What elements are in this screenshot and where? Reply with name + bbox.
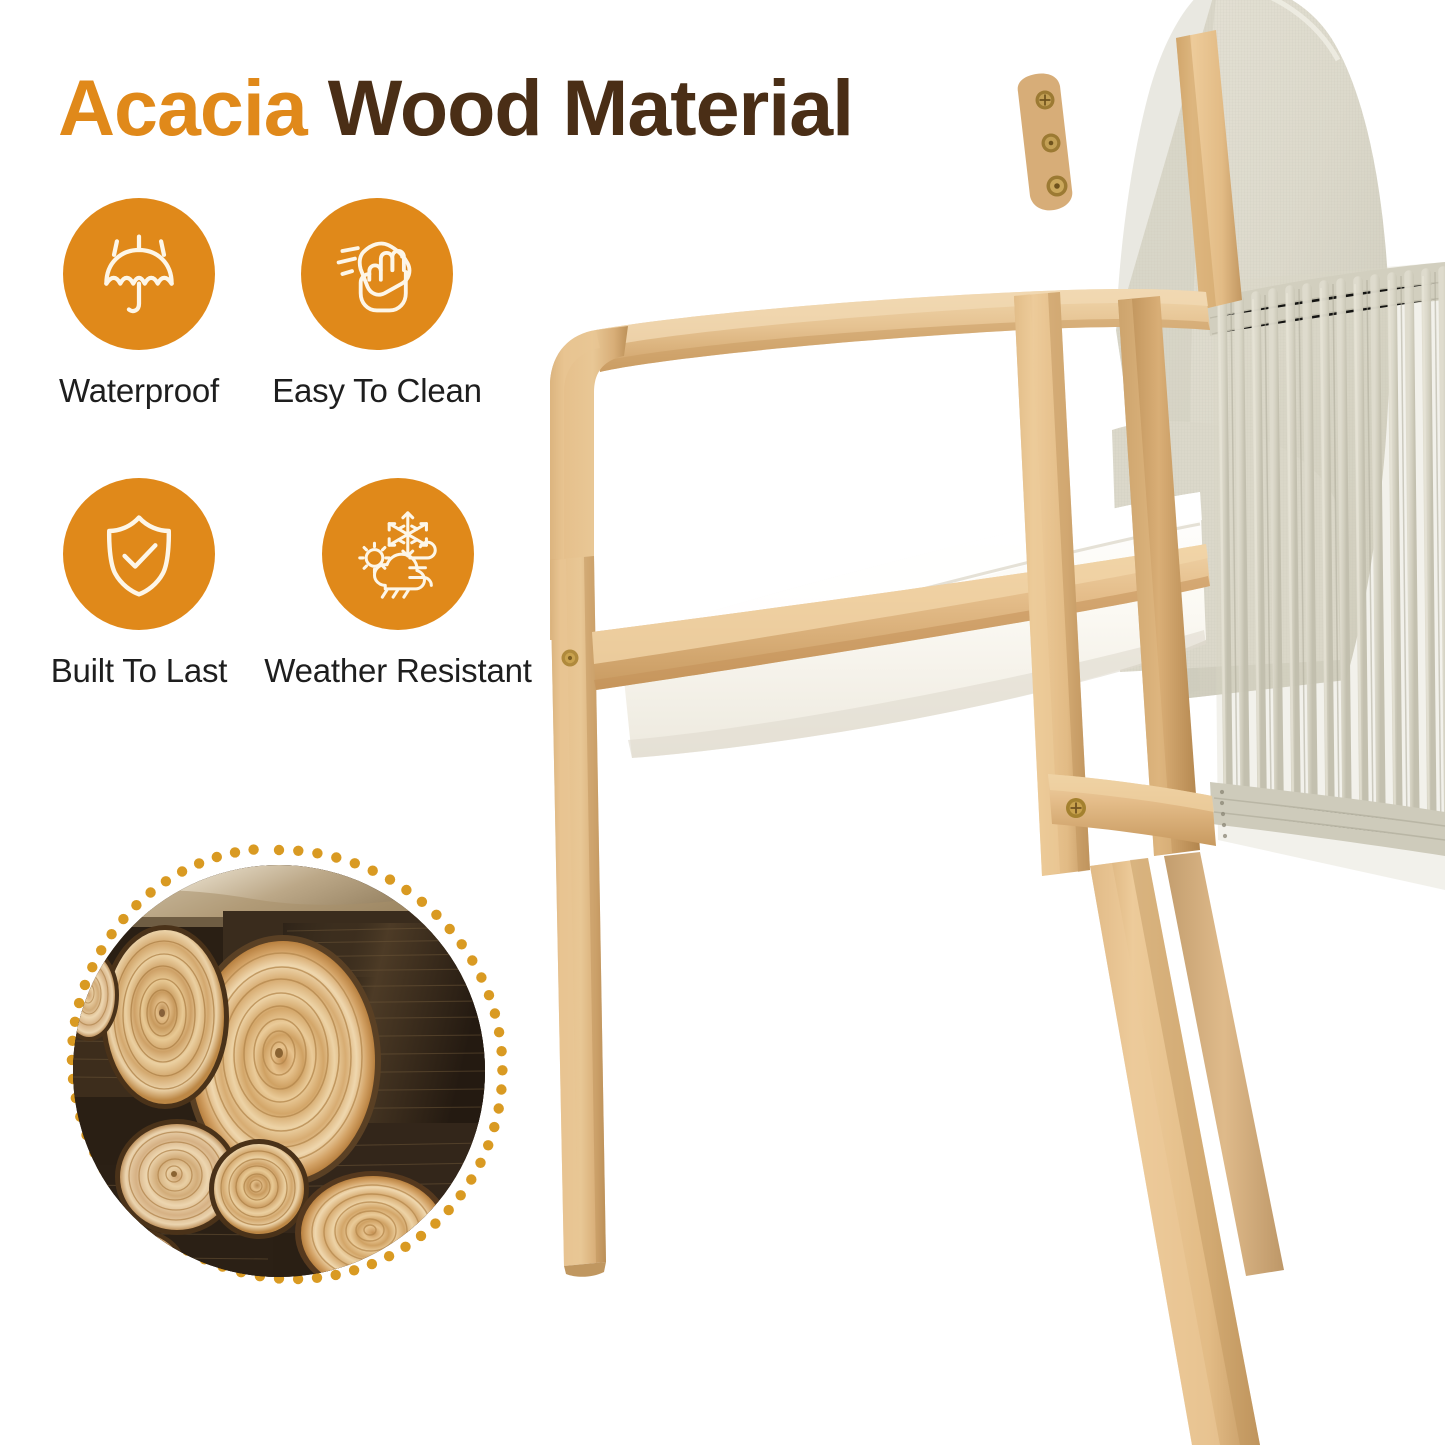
feature-waterproof: Waterproof [30, 198, 248, 410]
hand-wiping-cloth-icon [329, 226, 425, 322]
feature-icon-badge [322, 478, 474, 630]
feature-built-to-last: Built To Last [30, 478, 248, 690]
bracket-screw-3 [1047, 176, 1068, 197]
bracket-screw-2 [1042, 134, 1061, 153]
feature-icon-badge [301, 198, 453, 350]
feature-label: Waterproof [59, 372, 219, 410]
wood-photo-medallion [46, 838, 512, 1304]
feature-label: Easy To Clean [272, 372, 482, 410]
infographic-canvas: Acacia Wood Material [0, 0, 1445, 1445]
umbrella-rain-icon [91, 226, 187, 322]
bracket-screw-lower [1066, 798, 1086, 818]
feature-label: Built To Last [51, 652, 228, 690]
feature-row-2: Built To Last [30, 478, 550, 690]
leg-screw-hardware [562, 650, 579, 667]
feature-icon-badge [63, 198, 215, 350]
rope-weave-panel [1206, 262, 1445, 890]
feature-label: Weather Resistant [264, 652, 531, 690]
product-photo-acacia-armchair [500, 0, 1445, 1445]
title-accent-word: Acacia [58, 63, 307, 152]
stacked-logs-photo [73, 865, 485, 1277]
shield-check-icon [91, 506, 187, 602]
bracket-screw-1 [1036, 91, 1055, 110]
feature-icon-badge [63, 478, 215, 630]
feature-row-1: Waterproof [30, 198, 550, 410]
weather-snow-sun-wind-rain-icon [349, 505, 447, 603]
feature-grid: Waterproof [30, 198, 550, 690]
feature-easy-to-clean: Easy To Clean [248, 198, 506, 410]
